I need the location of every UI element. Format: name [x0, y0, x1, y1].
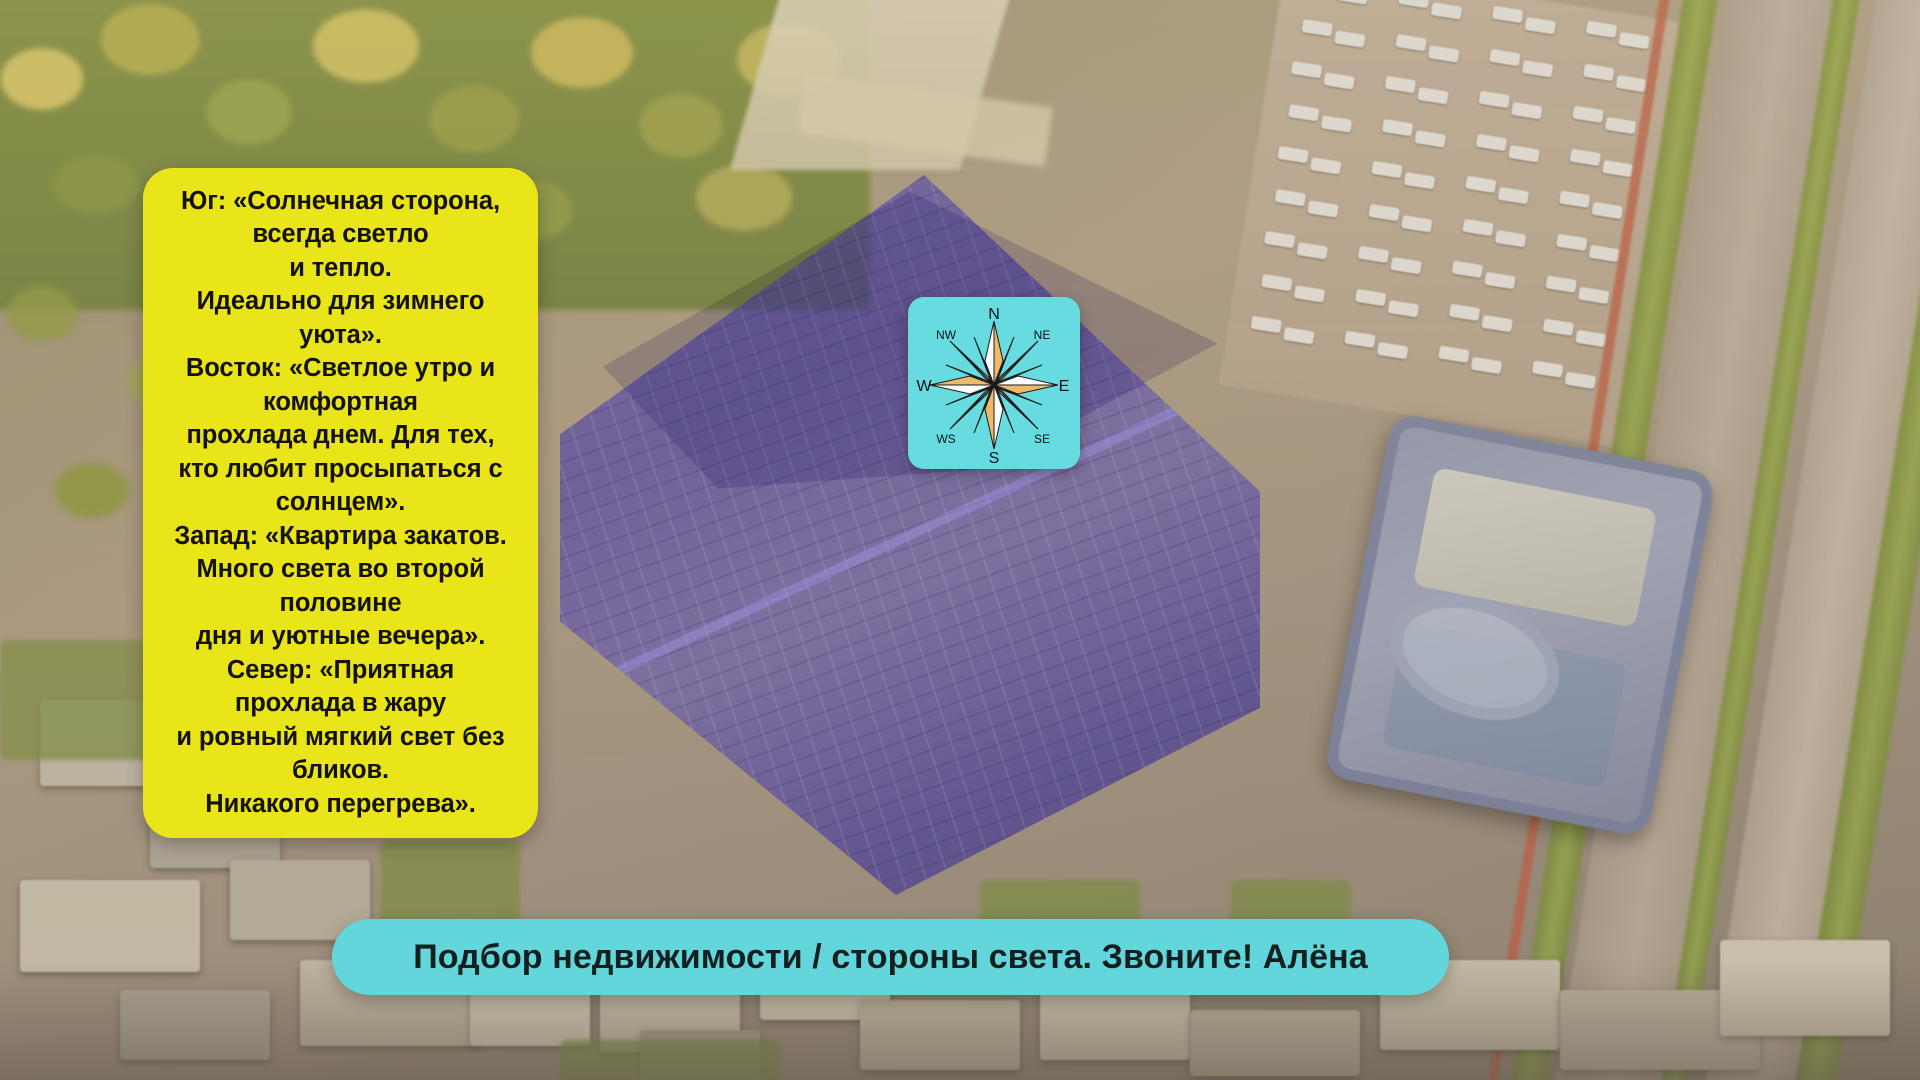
compass-label-s: S: [989, 450, 1000, 467]
poster-canvas: Юг: «Солнечная сторона, всегда светло и …: [0, 0, 1920, 1080]
compass-label-se: SE: [1034, 432, 1050, 446]
highlighted-building-overlay: [560, 175, 1260, 895]
compass-label-e: E: [1059, 378, 1070, 395]
cta-banner[interactable]: Подбор недвижимости / стороны света. Зво…: [332, 919, 1449, 995]
building-overlay-edge: [560, 175, 1260, 895]
compass-label-ws: WS: [936, 432, 955, 446]
compass-label-w: W: [916, 378, 932, 395]
orientation-info-card: Юг: «Солнечная сторона, всегда светло и …: [143, 168, 538, 838]
compass-rose-widget: N S E W NW NE WS SE: [908, 297, 1080, 469]
compass-label-n: N: [988, 306, 1000, 323]
compass-label-nw: NW: [936, 328, 957, 342]
orientation-info-text: Юг: «Солнечная сторона, всегда светло и …: [157, 185, 524, 822]
compass-rose-icon: N S E W NW NE WS SE: [908, 297, 1080, 469]
cta-banner-text: Подбор недвижимости / стороны света. Зво…: [413, 938, 1368, 977]
compass-label-ne: NE: [1034, 328, 1051, 342]
